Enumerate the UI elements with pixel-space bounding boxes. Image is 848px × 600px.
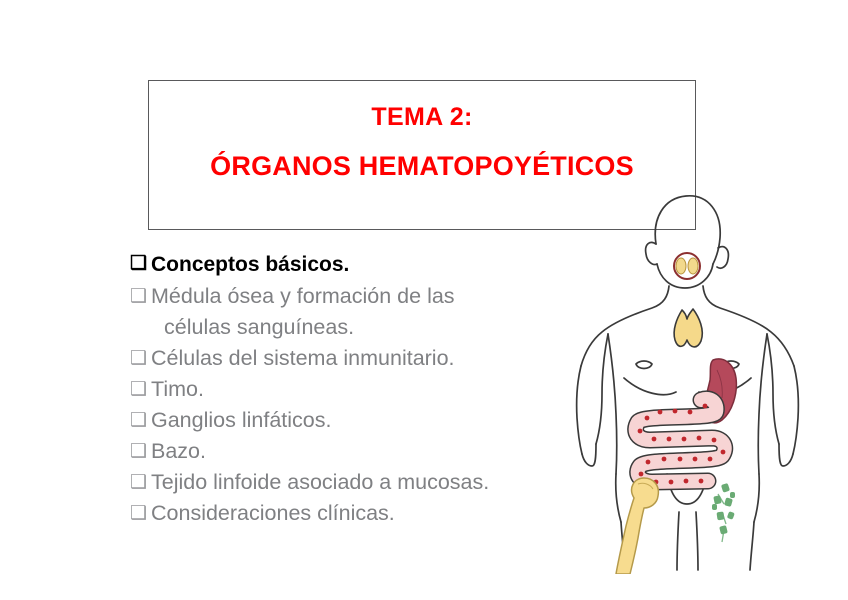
femur-bone-icon bbox=[616, 478, 658, 574]
list-item-label: Ganglios linfáticos. bbox=[151, 405, 331, 436]
list-item[interactable]: ❑ Conceptos básicos. bbox=[130, 248, 590, 281]
list-item-label: Consideraciones clínicas. bbox=[151, 498, 395, 529]
checkbox-bullet-icon: ❑ bbox=[130, 405, 151, 436]
human-body-diagram bbox=[572, 182, 840, 574]
thymus-organ-icon bbox=[674, 309, 702, 347]
list-item[interactable]: ❑ Células del sistema inmunitario. bbox=[130, 343, 590, 374]
intestine-organ-icon bbox=[636, 399, 726, 484]
list-item-label: Tejido linfoide asociado a mucosas. bbox=[151, 467, 489, 498]
checkbox-bullet-icon: ❑ bbox=[130, 281, 151, 312]
checkbox-bullet-icon: ❑ bbox=[130, 498, 151, 529]
list-item-label: Conceptos básicos. bbox=[151, 248, 349, 281]
list-item-label: Células del sistema inmunitario. bbox=[151, 343, 455, 374]
lymph-nodes-icon bbox=[712, 483, 735, 542]
slide-canvas: TEMA 2: ÓRGANOS HEMATOPOYÉTICOS ❑ Concep… bbox=[0, 0, 848, 600]
tonsils-organ-icon bbox=[674, 253, 700, 279]
checkbox-bullet-icon: ❑ bbox=[130, 374, 151, 405]
list-item[interactable]: ❑ Consideraciones clínicas. bbox=[130, 498, 590, 529]
body-outline-icon bbox=[577, 196, 799, 570]
checkbox-bullet-icon: ❑ bbox=[130, 343, 151, 374]
list-item-label: Bazo. bbox=[151, 436, 206, 467]
list-item[interactable]: ❑ Timo. bbox=[130, 374, 590, 405]
list-item-continuation: células sanguíneas. bbox=[130, 312, 590, 343]
list-item[interactable]: ❑ Ganglios linfáticos. bbox=[130, 405, 590, 436]
anatomy-figure bbox=[572, 182, 840, 574]
checkbox-bullet-icon: ❑ bbox=[130, 248, 151, 279]
checkbox-bullet-icon: ❑ bbox=[130, 436, 151, 467]
topic-list: ❑ Conceptos básicos. ❑ Médula ósea y for… bbox=[130, 248, 590, 529]
list-item[interactable]: ❑ Médula ósea y formación de las bbox=[130, 281, 590, 312]
list-item[interactable]: ❑ Bazo. bbox=[130, 436, 590, 467]
list-item[interactable]: ❑ Tejido linfoide asociado a mucosas. bbox=[130, 467, 590, 498]
list-item-label: Timo. bbox=[151, 374, 204, 405]
checkbox-bullet-icon: ❑ bbox=[130, 467, 151, 498]
list-item-label: Médula ósea y formación de las bbox=[151, 281, 455, 312]
